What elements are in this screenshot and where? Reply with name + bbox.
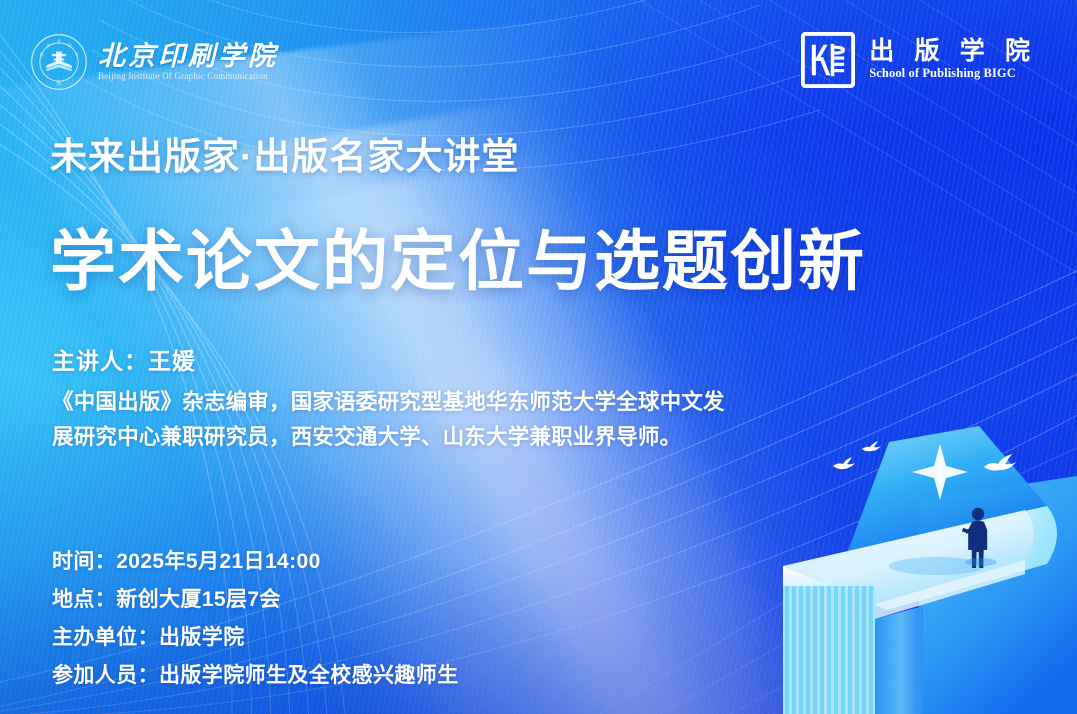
dove-icon xyxy=(982,452,1016,481)
detail-organizer: 主办单位：出版学院 xyxy=(52,619,459,657)
detail-time: 时间：2025年5月21日14:00 xyxy=(52,543,459,581)
svg-text:学: 学 xyxy=(74,51,78,57)
book-podium-illustration xyxy=(747,414,1077,714)
school-name-en: School of Publishing BIGC xyxy=(869,66,1016,81)
speaker-name: 主讲人：王媛 xyxy=(52,348,196,376)
dove-icon xyxy=(831,455,857,478)
kicker-text: 未来出版家·出版名家大讲堂 xyxy=(50,138,519,175)
speaker-bio: 《中国出版》杂志编审，国家语委研究型基地华东师范大学全球中文发 展研究中心兼职研… xyxy=(52,385,842,455)
svg-text:刷: 刷 xyxy=(40,51,44,57)
detail-audience: 参加人员：出版学院师生及全校感兴趣师生 xyxy=(52,657,459,695)
university-logo-names: 北京印刷学院 Beijing Institute Of Graphic Comm… xyxy=(98,43,278,81)
bigc-seal-icon: 北 京 印 刷 学 院 xyxy=(30,33,88,91)
school-logo-names: 出 版 学 院 School of Publishing BIGC xyxy=(869,39,1037,81)
school-logo: 出 版 学 院 School of Publishing BIGC xyxy=(801,32,1037,88)
school-of-publishing-seal-icon xyxy=(801,32,855,88)
svg-text:院: 院 xyxy=(57,80,61,86)
poster-header: 北 京 印 刷 学 院 北京印刷学院 Beijing Institute Of … xyxy=(0,0,1077,118)
svg-text:京: 京 xyxy=(46,42,50,48)
page-title: 学术论文的定位与选题创新 xyxy=(50,228,866,294)
university-name-cn: 北京印刷学院 xyxy=(98,43,278,70)
poster-root: 北 京 印 刷 学 院 北京印刷学院 Beijing Institute Of … xyxy=(0,0,1077,714)
event-details: 时间：2025年5月21日14:00 地点：新创大厦15层7会 主办单位：出版学… xyxy=(52,543,459,695)
detail-location: 地点：新创大厦15层7会 xyxy=(52,581,459,619)
university-name-en: Beijing Institute Of Graphic Communicati… xyxy=(98,71,278,81)
school-name-cn: 出 版 学 院 xyxy=(869,39,1037,64)
bio-line: 《中国出版》杂志编审，国家语委研究型基地华东师范大学全球中文发 xyxy=(52,385,842,420)
bio-line: 展研究中心兼职研究员，西安交通大学、山东大学兼职业界导师。 xyxy=(52,420,842,455)
dove-icon xyxy=(861,440,883,460)
svg-text:印: 印 xyxy=(68,42,72,48)
university-logo: 北 京 印 刷 学 院 北京印刷学院 Beijing Institute Of … xyxy=(30,33,278,91)
svg-text:北: 北 xyxy=(57,37,61,43)
